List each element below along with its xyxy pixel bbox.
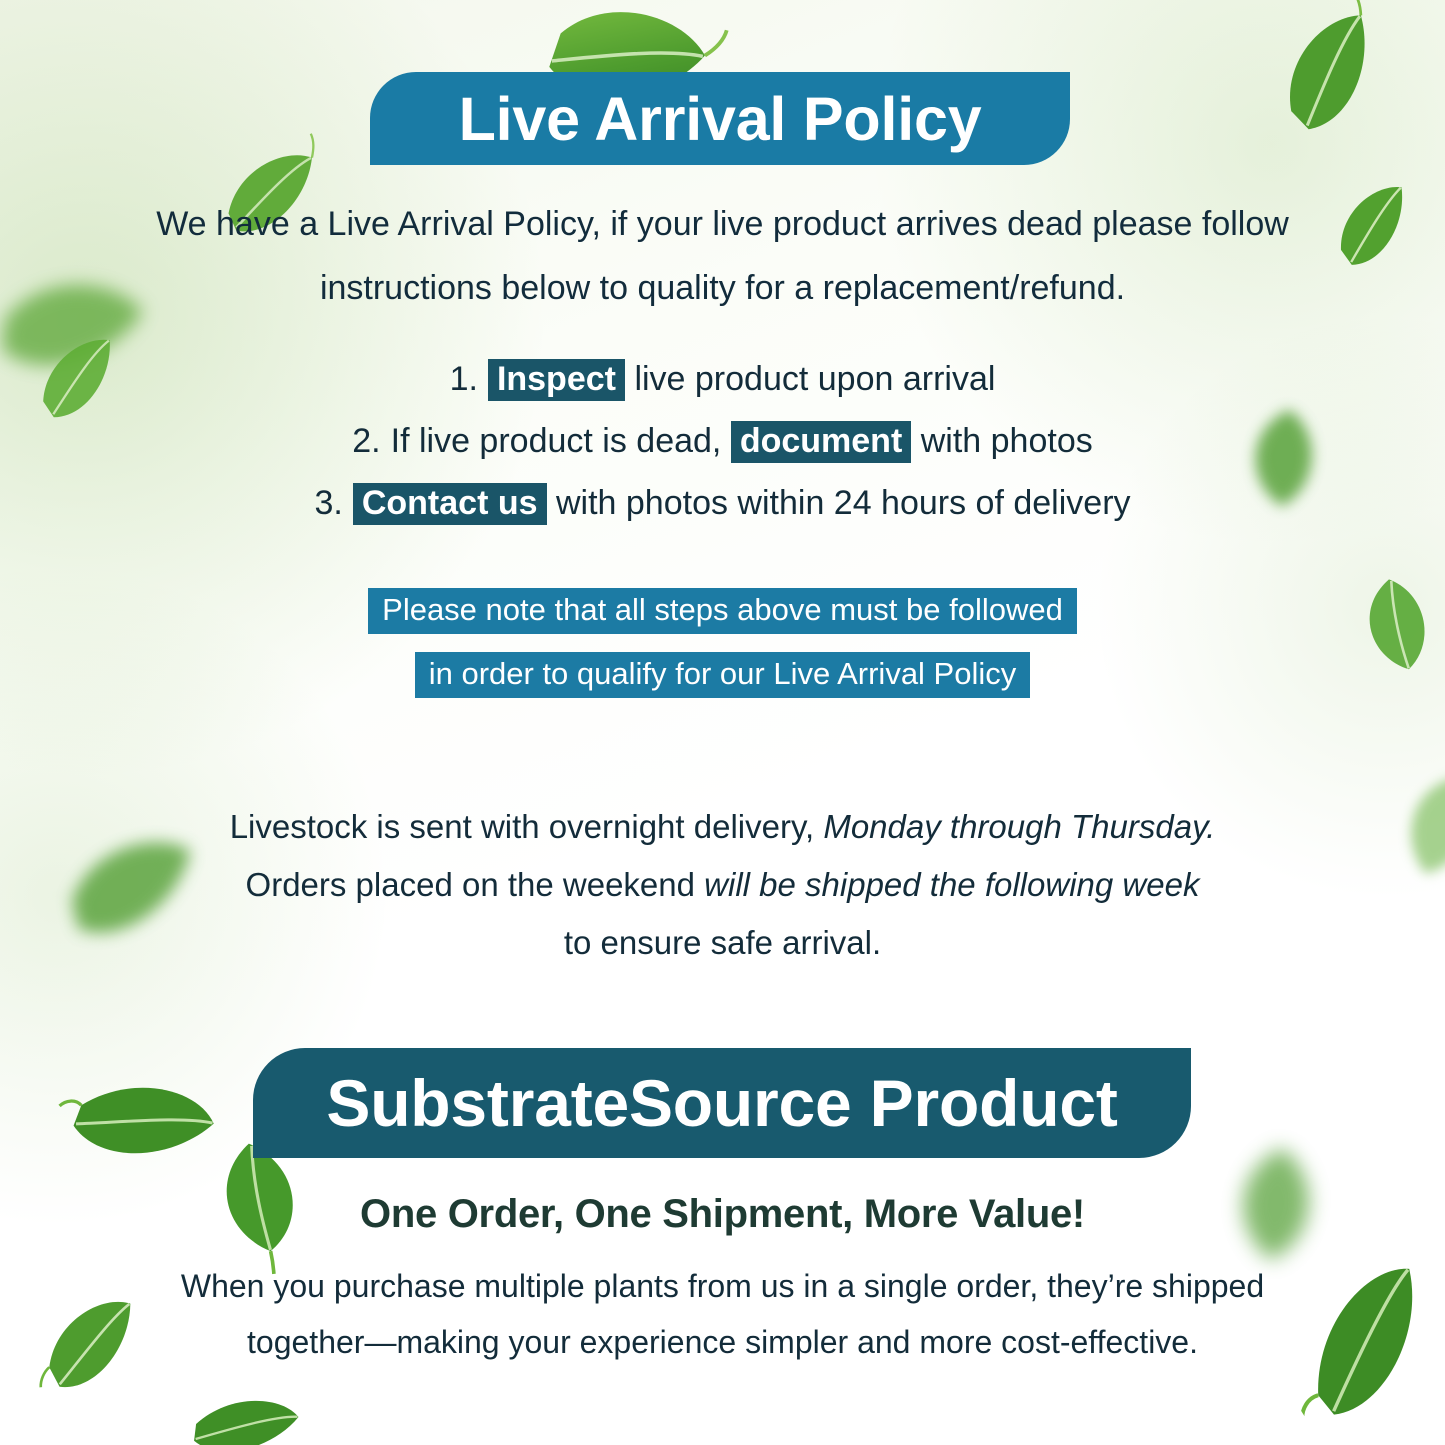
step-text: with photos within 24 hours of delivery xyxy=(556,484,1131,522)
product-description-line-2: together—making your experience simpler … xyxy=(100,1314,1345,1370)
shipping-line-1: Livestock is sent with overnight deliver… xyxy=(120,798,1325,856)
shipping-line-1-emphasis: Monday through Thursday. xyxy=(823,808,1215,845)
leaf-icon xyxy=(1304,159,1445,294)
step-lead-text: If live product is dead, xyxy=(391,422,722,460)
shipping-line-1-plain: Livestock is sent with overnight deliver… xyxy=(230,808,814,845)
step-number: 3. xyxy=(314,484,342,522)
shipping-line-3: to ensure safe arrival. xyxy=(120,914,1325,972)
step-highlight-contact-us[interactable]: Contact us xyxy=(353,483,547,525)
shipping-line-2-emphasis: will be shipped the following week xyxy=(704,866,1199,903)
step-item-1: 1.Inspect live product upon arrival xyxy=(120,348,1325,410)
shipping-line-2-plain: Orders placed on the weekend xyxy=(246,866,695,903)
product-subheading: One Order, One Shipment, More Value! xyxy=(120,1192,1325,1237)
step-item-2: 2.If live product is dead, document with… xyxy=(120,410,1325,472)
leaf-icon xyxy=(1360,742,1445,907)
step-item-3: 3.Contact us with photos within 24 hours… xyxy=(120,472,1325,534)
shipping-paragraph: Livestock is sent with overnight deliver… xyxy=(120,798,1325,972)
live-arrival-policy-banner: Live Arrival Policy xyxy=(370,72,1070,165)
substratesource-product-banner: SubstrateSource Product xyxy=(253,1048,1191,1158)
leaf-icon xyxy=(1233,0,1432,169)
leaf-icon xyxy=(1334,552,1445,697)
policy-note-block: Please note that all steps above must be… xyxy=(120,578,1325,706)
note-line-2: in order to qualify for our Live Arrival… xyxy=(415,652,1031,698)
product-description-line-1: When you purchase multiple plants from u… xyxy=(100,1258,1345,1314)
note-line-1: Please note that all steps above must be… xyxy=(368,588,1077,634)
shipping-line-2: Orders placed on the weekend will be shi… xyxy=(120,856,1325,914)
policy-infographic: Live Arrival Policy We have a Live Arriv… xyxy=(0,0,1445,1445)
intro-line-1: We have a Live Arrival Policy, if your l… xyxy=(120,192,1325,256)
leaf-icon xyxy=(160,1358,331,1445)
product-description: When you purchase multiple plants from u… xyxy=(100,1258,1345,1370)
step-text: with photos xyxy=(921,422,1093,460)
intro-paragraph: We have a Live Arrival Policy, if your l… xyxy=(120,192,1325,320)
step-number: 2. xyxy=(352,422,380,460)
substratesource-product-title: SubstrateSource Product xyxy=(326,1065,1117,1141)
step-highlight-inspect: Inspect xyxy=(488,359,625,401)
step-text: live product upon arrival xyxy=(634,360,995,398)
step-number: 1. xyxy=(450,360,478,398)
steps-list: 1.Inspect live product upon arrival 2.If… xyxy=(120,348,1325,534)
intro-line-2: instructions below to quality for a repl… xyxy=(120,256,1325,320)
live-arrival-policy-title: Live Arrival Policy xyxy=(459,84,982,154)
step-highlight-document: document xyxy=(731,421,911,463)
